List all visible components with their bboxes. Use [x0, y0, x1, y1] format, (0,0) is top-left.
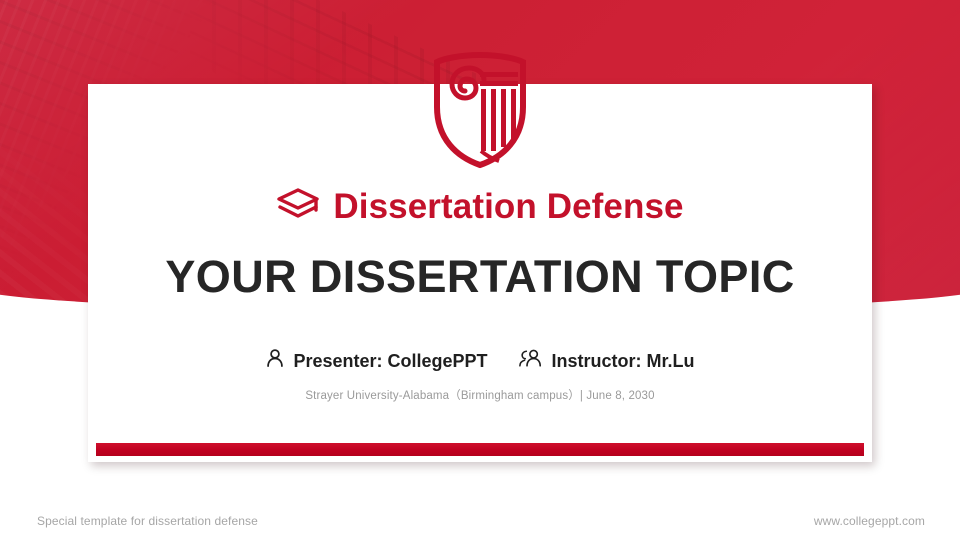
- card-accent-bar: [96, 443, 864, 456]
- page-title: YOUR DISSERTATION TOPIC: [0, 252, 960, 302]
- eyebrow-label: Dissertation Defense: [333, 189, 683, 224]
- eyebrow-row: Dissertation Defense: [0, 187, 960, 226]
- shield-column-icon: [431, 51, 529, 169]
- graduation-cap-icon: [276, 187, 320, 226]
- instructor-item: Instructor: Mr.Lu: [518, 348, 695, 373]
- meta-line: Strayer University-Alabama（Birmingham ca…: [0, 387, 960, 403]
- people-group-icon: [518, 348, 544, 373]
- people-row: Presenter: CollegePPT Instructor: Mr.Lu: [0, 348, 960, 373]
- instructor-label: Instructor: Mr.Lu: [552, 352, 695, 370]
- slide: Dissertation Defense YOUR DISSERTATION T…: [0, 0, 960, 540]
- presenter-item: Presenter: CollegePPT: [265, 348, 487, 373]
- footer-right-text: www.collegeppt.com: [814, 514, 925, 528]
- footer-left-text: Special template for dissertation defens…: [37, 514, 258, 528]
- person-icon: [265, 348, 285, 373]
- presenter-label: Presenter: CollegePPT: [293, 352, 487, 370]
